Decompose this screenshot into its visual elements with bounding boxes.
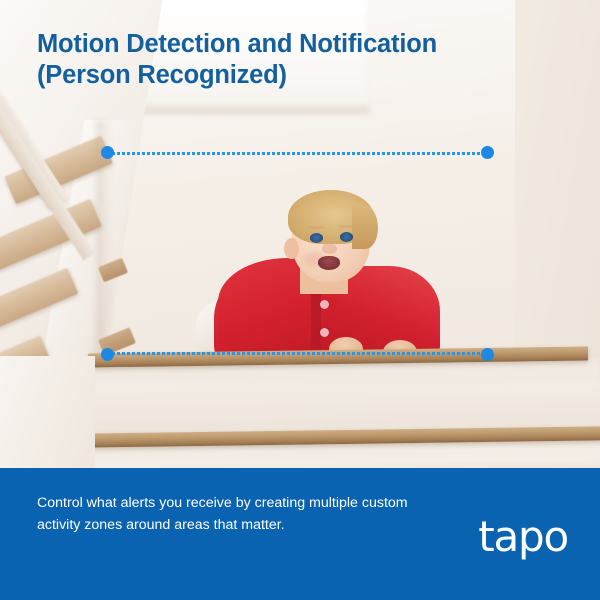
camera-scene-photo: Motion Detection and Notification (Perso… — [0, 0, 600, 470]
zone-edge-left — [107, 152, 110, 355]
zone-handle-top-right[interactable] — [481, 146, 494, 159]
zone-edge-bottom — [107, 352, 488, 355]
zone-edge-right — [485, 152, 488, 355]
promo-card: Motion Detection and Notification (Perso… — [0, 0, 600, 600]
zone-handle-bottom-left[interactable] — [101, 348, 114, 361]
footer-caption: Control what alerts you receive by creat… — [37, 493, 447, 536]
tapo-logo: tapo — [478, 512, 568, 561]
activity-zone-overlay[interactable] — [107, 152, 488, 355]
zone-handle-top-left[interactable] — [101, 146, 114, 159]
zone-edge-top — [107, 152, 488, 155]
page-title: Motion Detection and Notification (Perso… — [37, 29, 557, 91]
footer-bar: Control what alerts you receive by creat… — [0, 468, 600, 600]
zone-handle-bottom-right[interactable] — [481, 348, 494, 361]
stair-side-wall — [0, 356, 95, 470]
